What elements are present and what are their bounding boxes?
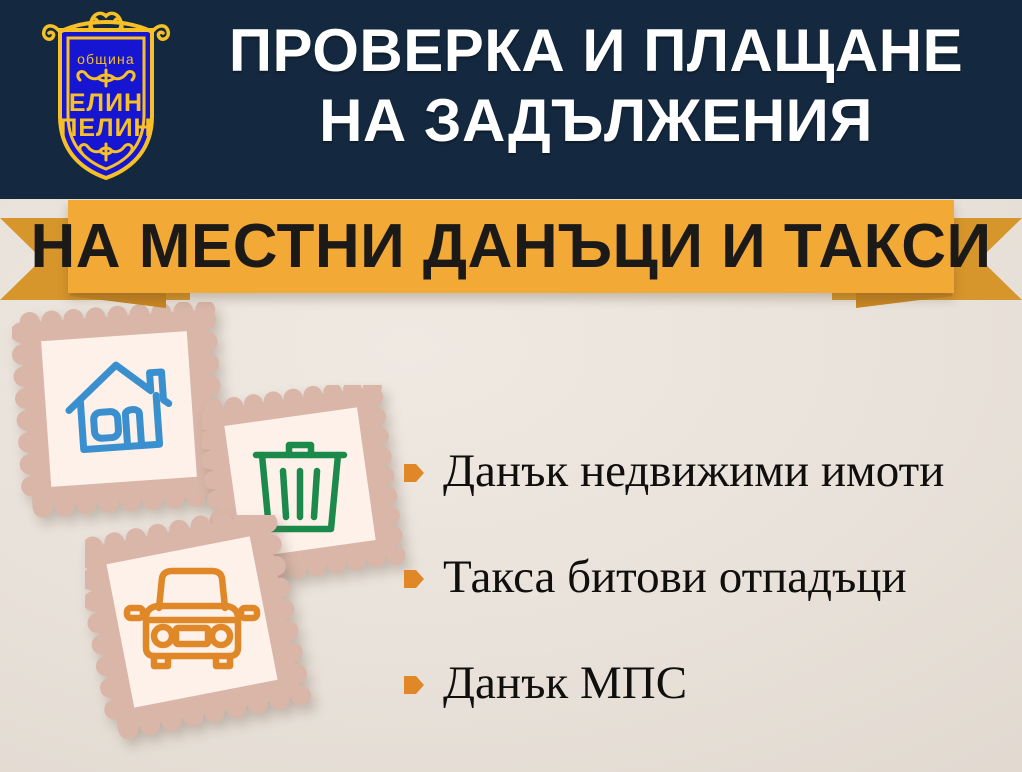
bullet-arrow-icon <box>403 567 425 591</box>
tax-type-list: Данък недвижими имоти Такса битови отпад… <box>403 418 1015 736</box>
list-item[interactable]: Данък МПС <box>403 630 1015 736</box>
ribbon-fold-left <box>70 292 166 308</box>
list-item[interactable]: Данък недвижими имоти <box>403 418 1015 524</box>
ribbon-band: НА МЕСТНИ ДАНЪЦИ И ТАКСИ <box>68 200 954 293</box>
page-title-line-1: ПРОВЕРКА И ПЛАЩАНЕ <box>229 17 963 84</box>
list-item-label: Такса битови отпадъци <box>443 554 907 601</box>
page-title: ПРОВЕРКА И ПЛАЩАНЕ НА ЗАДЪЛЖЕНИЯ <box>186 16 1006 156</box>
ribbon-fold-right <box>856 292 952 308</box>
svg-text:ПЕЛИН: ПЕЛИН <box>59 114 152 142</box>
header-bar: община ЕЛИН ПЕЛИН <box>0 0 1022 199</box>
list-item-label: Данък недвижими имоти <box>443 448 944 495</box>
page-title-line-2: НА ЗАДЪЛЖЕНИЯ <box>186 86 1006 156</box>
list-item[interactable]: Такса битови отпадъци <box>403 524 1015 630</box>
subtitle-ribbon: НА МЕСТНИ ДАНЪЦИ И ТАКСИ <box>0 199 1022 309</box>
svg-text:ЕЛИН: ЕЛИН <box>69 89 143 117</box>
stamp-car <box>85 515 325 755</box>
poster-root: община ЕЛИН ПЕЛИН <box>0 0 1022 772</box>
ribbon-label: НА МЕСТНИ ДАНЪЦИ И ТАКСИ <box>30 216 991 278</box>
coat-of-arms-icon: община ЕЛИН ПЕЛИН <box>36 8 176 188</box>
svg-text:община: община <box>77 51 135 67</box>
bullet-arrow-icon <box>403 461 425 485</box>
list-item-label: Данък МПС <box>443 660 687 707</box>
bullet-arrow-icon <box>403 673 425 697</box>
stamp-collection <box>0 290 420 772</box>
